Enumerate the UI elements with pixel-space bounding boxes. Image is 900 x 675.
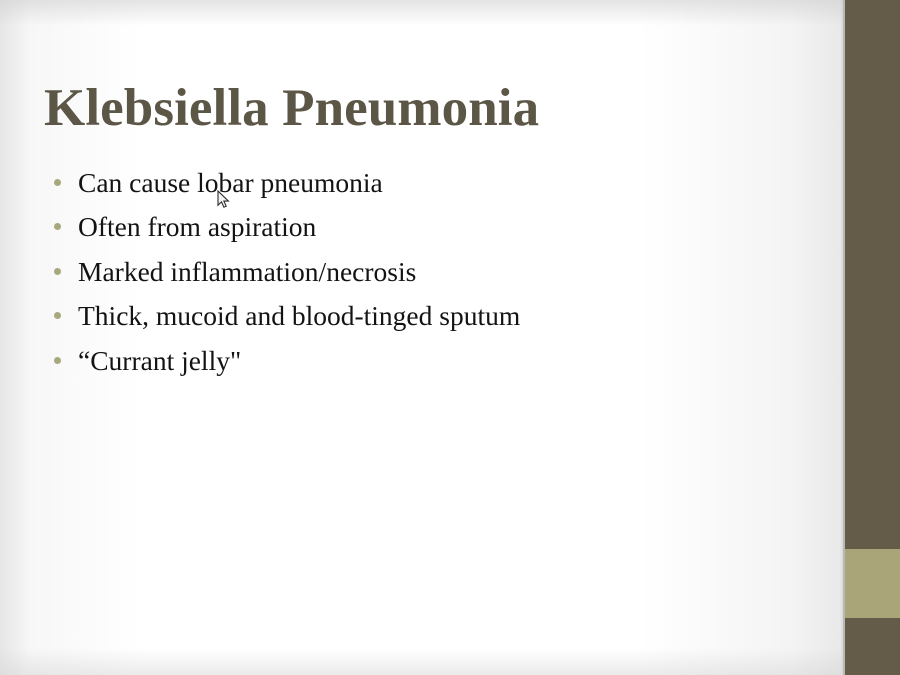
list-item-label: “Currant jelly" <box>78 347 808 375</box>
list-item: Can cause lobar pneumonia <box>48 160 808 205</box>
list-item: Marked inflammation/necrosis <box>48 249 808 294</box>
slide-decorative-sidebar <box>845 0 900 675</box>
bullet-dot-icon <box>54 357 61 364</box>
slide-title: Klebsiella Pneumonia <box>44 80 539 136</box>
list-item: “Currant jelly" <box>48 338 808 383</box>
presentation-slide: Klebsiella Pneumonia Can cause lobar pne… <box>0 0 900 675</box>
bullet-dot-icon <box>54 312 61 319</box>
list-item-label: Can cause lobar pneumonia <box>78 169 808 197</box>
sidebar-band-khaki-middle <box>845 549 900 618</box>
list-item-label: Marked inflammation/necrosis <box>78 258 808 286</box>
bullet-dot-icon <box>54 268 61 275</box>
list-item-label: Thick, mucoid and blood-tinged sputum <box>78 302 808 330</box>
list-item: Often from aspiration <box>48 205 808 250</box>
bullet-dot-icon <box>54 179 61 186</box>
list-item-label: Often from aspiration <box>78 213 808 241</box>
sidebar-band-dark-bottom <box>845 618 900 675</box>
slide-bullet-list: Can cause lobar pneumonia Often from asp… <box>48 160 808 383</box>
list-item: Thick, mucoid and blood-tinged sputum <box>48 294 808 339</box>
bullet-dot-icon <box>54 223 61 230</box>
sidebar-band-dark-top <box>845 0 900 549</box>
